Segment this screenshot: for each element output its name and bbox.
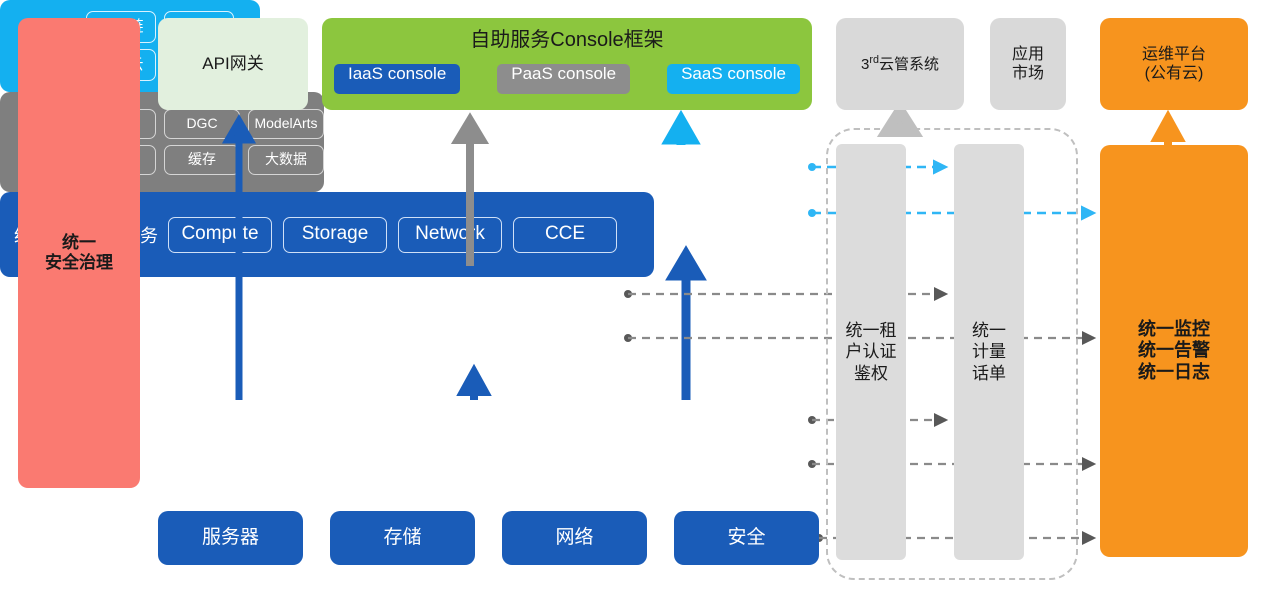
- api-gateway-label: API网关: [202, 54, 263, 74]
- infra-service-cce[interactable]: CCE: [513, 217, 617, 253]
- app-market-box[interactable]: 应用 市场: [990, 18, 1066, 110]
- third-party-cloud-mgmt-box[interactable]: 3rd云管系统: [836, 18, 964, 110]
- shared-service-auth-line1: 统一租: [846, 320, 897, 341]
- infrastructure-service-row: Compute Storage Network CCE: [168, 217, 617, 253]
- shared-service-metering[interactable]: 统一 计量 话单: [954, 144, 1024, 560]
- infra-service-storage[interactable]: Storage: [283, 217, 387, 253]
- paas-service-bigdata[interactable]: 大数据: [248, 145, 324, 175]
- infra-service-network[interactable]: Network: [398, 217, 502, 253]
- console-frame-title: 自助服务Console框架: [322, 28, 812, 52]
- security-governance-column[interactable]: 统一 安全治理: [18, 18, 140, 488]
- resource-box-security-label: 安全: [727, 527, 765, 550]
- paas-service-dgc[interactable]: DGC: [164, 109, 240, 139]
- arrow-infra-to-saas: [673, 254, 699, 400]
- arrow-infra-to-paas: [463, 372, 485, 400]
- app-market-line1: 应用: [1012, 45, 1044, 64]
- ops-platform-line1: 运维平台: [1142, 45, 1206, 64]
- security-governance-line2: 安全治理: [45, 253, 113, 273]
- shared-service-metering-line3: 话单: [972, 363, 1006, 384]
- api-gateway-box[interactable]: API网关: [158, 18, 308, 110]
- resource-box-storage[interactable]: 存储: [330, 511, 475, 565]
- console-chip-row: IaaS console PaaS console SaaS console: [334, 64, 800, 94]
- resource-box-network[interactable]: 网络: [502, 511, 647, 565]
- ops-monitoring-line1: 统一监控: [1138, 319, 1210, 341]
- shared-service-metering-line2: 计量: [972, 341, 1006, 362]
- paas-console-chip[interactable]: PaaS console: [497, 64, 630, 94]
- third-party-suffix: 云管系统: [879, 56, 939, 73]
- iaas-console-chip[interactable]: IaaS console: [334, 64, 460, 94]
- ops-platform-line2: (公有云): [1142, 64, 1206, 83]
- ops-platform-box[interactable]: 运维平台 (公有云): [1100, 18, 1248, 110]
- resource-box-server-label: 服务器: [202, 527, 259, 550]
- third-party-superscript: rd: [869, 54, 879, 66]
- ops-monitoring-line3: 统一日志: [1138, 362, 1210, 384]
- saas-console-chip[interactable]: SaaS console: [667, 64, 800, 94]
- shared-service-metering-line1: 统一: [972, 320, 1006, 341]
- app-market-line2: 市场: [1012, 64, 1044, 83]
- shared-service-auth-line3: 鉴权: [846, 363, 897, 384]
- security-governance-line1: 统一: [45, 233, 113, 253]
- arrow-saas-to-console: [669, 119, 693, 145]
- third-party-cloud-mgmt-label: 3rd云管系统: [861, 54, 939, 74]
- infra-service-compute[interactable]: Compute: [168, 217, 272, 253]
- paas-service-modelarts[interactable]: ModelArts: [248, 109, 324, 139]
- resource-box-server[interactable]: 服务器: [158, 511, 303, 565]
- paas-service-cache[interactable]: 缓存: [164, 145, 240, 175]
- shared-service-auth-line2: 户认证: [846, 341, 897, 362]
- console-frame[interactable]: 自助服务Console框架 IaaS console PaaS console …: [322, 18, 812, 110]
- ops-monitoring-line2: 统一告警: [1138, 340, 1210, 362]
- shared-service-auth[interactable]: 统一租 户认证 鉴权: [836, 144, 906, 560]
- ops-monitoring-column[interactable]: 统一监控 统一告警 统一日志: [1100, 145, 1248, 557]
- architecture-diagram: 统一租 户认证 鉴权 统一 计量 话单 统一 安全治理 API网关 自助服务Co…: [0, 0, 1265, 605]
- resource-box-network-label: 网络: [555, 527, 593, 550]
- resource-box-storage-label: 存储: [383, 527, 421, 550]
- arrow-ops-column-to-ops-top: [1157, 118, 1179, 145]
- resource-box-security[interactable]: 安全: [674, 511, 819, 565]
